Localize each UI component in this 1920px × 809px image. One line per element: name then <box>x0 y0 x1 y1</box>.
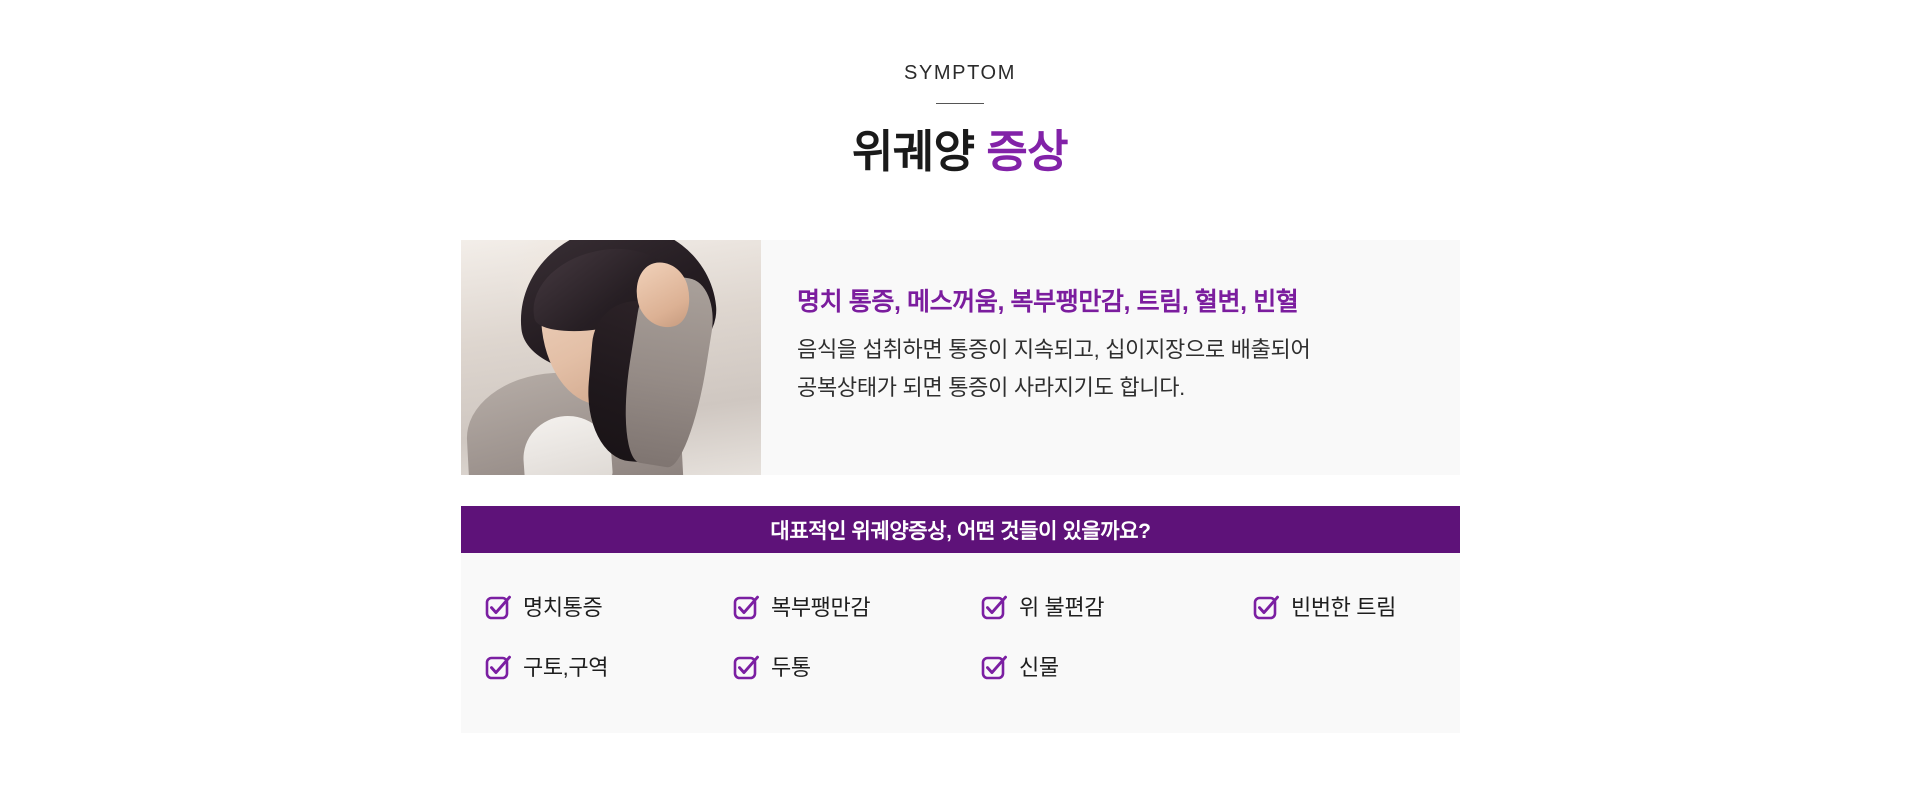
checklist-item[interactable]: 위 불편감 <box>979 594 1251 622</box>
symptom-description-line-2: 공복상태가 되면 통증이 사라지기도 합니다. <box>797 369 1460 407</box>
checkbox-checked-icon <box>1251 594 1279 622</box>
page-title-accent: 증상 <box>986 126 1068 177</box>
section-eyebrow: SYMPTOM <box>0 60 1920 86</box>
section-header: SYMPTOM 위궤양 증상 <box>0 60 1920 178</box>
checklist-item[interactable]: 신물 <box>979 654 1251 682</box>
checklist-item[interactable]: 복부팽만감 <box>731 594 979 622</box>
header-divider <box>936 103 984 104</box>
checklist-item-label: 두통 <box>771 654 811 682</box>
checklist-item-label: 위 불편감 <box>1019 594 1104 622</box>
checklist-item-label: 명치통증 <box>523 594 602 622</box>
patient-photo <box>461 240 761 475</box>
question-banner: 대표적인 위궤양증상, 어떤 것들이 있을까요? <box>461 506 1460 553</box>
symptom-description-line-1: 음식을 섭취하면 통증이 지속되고, 십이지장으로 배출되어 <box>797 331 1460 369</box>
checkbox-checked-icon <box>731 654 759 682</box>
card-text-block: 명치 통증, 메스꺼움, 복부팽만감, 트림, 혈변, 빈혈 음식을 섭취하면 … <box>761 240 1460 475</box>
symptom-section: SYMPTOM 위궤양 증상 명치 통증, 메스꺼움, 복부팽만감, 트림, 혈… <box>0 0 1920 809</box>
symptom-checklist: 명치통증 복부팽만감 위 불편감 <box>483 578 1460 698</box>
page-title-primary: 위궤양 <box>852 126 974 177</box>
page-title: 위궤양 증상 <box>0 126 1920 178</box>
checklist-item-label: 복부팽만감 <box>771 594 870 622</box>
checklist-item[interactable]: 두통 <box>731 654 979 682</box>
symptom-info-card: 명치 통증, 메스꺼움, 복부팽만감, 트림, 혈변, 빈혈 음식을 섭취하면 … <box>461 240 1460 475</box>
checklist-item-label: 빈번한 트림 <box>1291 594 1396 622</box>
checklist-item[interactable]: 빈번한 트림 <box>1251 594 1482 622</box>
checklist-item[interactable]: 구토,구역 <box>483 654 731 682</box>
checklist-item[interactable]: 명치통증 <box>483 594 731 622</box>
checkbox-checked-icon <box>731 594 759 622</box>
question-banner-label: 대표적인 위궤양증상, 어떤 것들이 있을까요? <box>770 515 1150 545</box>
symptom-checklist-panel: 명치통증 복부팽만감 위 불편감 <box>461 553 1460 733</box>
checkbox-checked-icon <box>483 594 511 622</box>
checklist-item-label: 신물 <box>1019 654 1059 682</box>
checkbox-checked-icon <box>979 654 1007 682</box>
checkbox-checked-icon <box>979 594 1007 622</box>
symptom-list-title: 명치 통증, 메스꺼움, 복부팽만감, 트림, 혈변, 빈혈 <box>797 286 1460 318</box>
checklist-item-label: 구토,구역 <box>523 654 608 682</box>
checkbox-checked-icon <box>483 654 511 682</box>
symptom-description: 음식을 섭취하면 통증이 지속되고, 십이지장으로 배출되어 공복상태가 되면 … <box>797 331 1460 407</box>
